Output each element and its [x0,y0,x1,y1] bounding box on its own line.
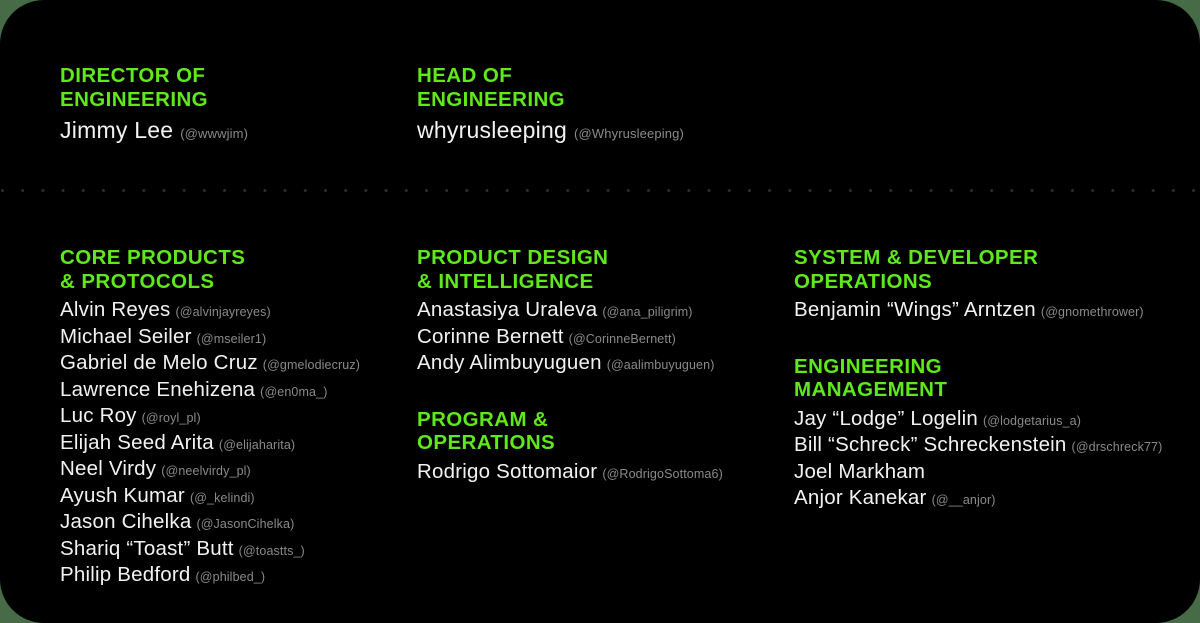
person-list: Jay “Lodge” Logelin(@lodgetarius_a) Bill… [794,407,1162,513]
person-list: Rodrigo Sottomaior(@RodrigoSottoma6) [417,460,723,487]
person-name: Jimmy Lee [60,117,173,143]
person-name: Anjor Kanekar [794,486,927,509]
person-entry: Bill “Schreck” Schreckenstein(@drschreck… [794,433,1162,460]
department-column-1: Core Products & Protocols Alvin Reyes(@a… [60,246,360,590]
group-title: Director of Engineering [60,64,248,111]
person-name: Gabriel de Melo Cruz [60,351,258,374]
person-entry: Anastasiya Uraleva(@ana_piligrim) [417,298,723,325]
department-column-2: Product Design & Intelligence Anastasiya… [417,246,723,486]
person-handle: (@toastts_) [239,544,305,558]
person-name: Anastasiya Uraleva [417,298,597,321]
person-handle: (@CorinneBernett) [569,332,676,346]
person-handle: (@en0ma_) [260,385,327,399]
department-group-product-design-and-intelligence: Product Design & Intelligence Anastasiya… [417,246,723,378]
department-column-3: System & Developer Operations Benjamin “… [794,246,1162,513]
person-entry: Elijah Seed Arita(@elijaharita) [60,431,360,458]
person-name: Neel Virdy [60,457,156,480]
department-group-engineering-management: Engineering Management Jay “Lodge” Logel… [794,355,1162,513]
person-handle: (@__anjor) [932,493,996,507]
person-handle: (@JasonCihelka) [196,517,294,531]
group-title: System & Developer Operations [794,246,1162,293]
person-entry: Luc Roy(@royl_pl) [60,404,360,431]
person-name: Benjamin “Wings” Arntzen [794,298,1036,321]
dotted-divider [0,188,1200,193]
department-group-program-and-operations: Program & Operations Rodrigo Sottomaior(… [417,408,723,487]
person-name: Jason Cihelka [60,510,191,533]
person-entry: Alvin Reyes(@alvinjayreyes) [60,298,360,325]
person-name: Bill “Schreck” Schreckenstein [794,433,1067,456]
person-handle: (@aalimbuyuguen) [607,358,715,372]
person-name: Corinne Bernett [417,325,564,348]
group-title: Head of Engineering [417,64,684,111]
person-name: Rodrigo Sottomaior [417,460,597,483]
group-title: Engineering Management [794,355,1162,402]
person-name: Philip Bedford [60,563,191,586]
person-entry: Gabriel de Melo Cruz(@gmelodiecruz) [60,351,360,378]
person-entry: Benjamin “Wings” Arntzen(@gnomethrower) [794,298,1162,325]
group-title: Program & Operations [417,408,723,455]
person-handle: (@drschreck77) [1072,440,1163,454]
person-entry: Shariq “Toast” Butt(@toastts_) [60,537,360,564]
person-entry: Jimmy Lee(@wwwjim) [60,116,248,148]
person-handle: (@gnomethrower) [1041,305,1144,319]
person-name: Michael Seiler [60,325,192,348]
person-handle: (@elijaharita) [219,438,295,452]
person-handle: (@ana_piligrim) [602,305,692,319]
person-handle: (@wwwjim) [180,126,248,141]
person-handle: (@gmelodiecruz) [263,358,360,372]
person-entry: Anjor Kanekar(@__anjor) [794,486,1162,513]
person-handle: (@royl_pl) [142,411,201,425]
person-entry: Corinne Bernett(@CorinneBernett) [417,325,723,352]
leadership-group-head-of-engineering: Head of Engineering whyrusleeping(@Whyru… [417,64,684,148]
person-name: Joel Markham [794,460,925,483]
person-handle: (@alvinjayreyes) [176,305,271,319]
person-name: Elijah Seed Arita [60,431,214,454]
person-entry: Ayush Kumar(@_kelindi) [60,484,360,511]
person-handle: (@philbed_) [196,570,266,584]
person-name: Luc Roy [60,404,137,427]
person-entry: Michael Seiler(@mseiler1) [60,325,360,352]
person-name: Alvin Reyes [60,298,171,321]
person-entry: Rodrigo Sottomaior(@RodrigoSottoma6) [417,460,723,487]
person-handle: (@RodrigoSottoma6) [602,467,723,481]
person-entry: Lawrence Enehizena(@en0ma_) [60,378,360,405]
person-name: Ayush Kumar [60,484,185,507]
person-list: Alvin Reyes(@alvinjayreyes) Michael Seil… [60,298,360,590]
team-roster-card: Director of Engineering Jimmy Lee(@wwwji… [0,0,1200,623]
person-handle: (@neelvirdy_pl) [161,464,251,478]
person-name: whyrusleeping [417,117,567,143]
person-entry: whyrusleeping(@Whyrusleeping) [417,116,684,148]
person-handle: (@_kelindi) [190,491,255,505]
leadership-group-director-of-engineering: Director of Engineering Jimmy Lee(@wwwji… [60,64,248,148]
department-group-core-products-and-protocols: Core Products & Protocols Alvin Reyes(@a… [60,246,360,590]
leadership-band: Director of Engineering Jimmy Lee(@wwwji… [0,0,1200,190]
person-entry: Jay “Lodge” Logelin(@lodgetarius_a) [794,407,1162,434]
person-list: Benjamin “Wings” Arntzen(@gnomethrower) [794,298,1162,325]
group-title: Product Design & Intelligence [417,246,723,293]
group-title: Core Products & Protocols [60,246,360,293]
person-entry: Andy Alimbuyuguen(@aalimbuyuguen) [417,351,723,378]
department-group-system-and-developer-operations: System & Developer Operations Benjamin “… [794,246,1162,325]
person-handle: (@Whyrusleeping) [574,126,684,141]
person-entry: Philip Bedford(@philbed_) [60,563,360,590]
person-handle: (@lodgetarius_a) [983,414,1081,428]
person-name: Jay “Lodge” Logelin [794,407,978,430]
person-handle: (@mseiler1) [197,332,267,346]
person-name: Andy Alimbuyuguen [417,351,602,374]
person-entry: Jason Cihelka(@JasonCihelka) [60,510,360,537]
person-name: Shariq “Toast” Butt [60,537,234,560]
person-entry: Neel Virdy(@neelvirdy_pl) [60,457,360,484]
person-list: Anastasiya Uraleva(@ana_piligrim) Corinn… [417,298,723,378]
person-name: Lawrence Enehizena [60,378,255,401]
person-entry: Joel Markham [794,460,1162,487]
